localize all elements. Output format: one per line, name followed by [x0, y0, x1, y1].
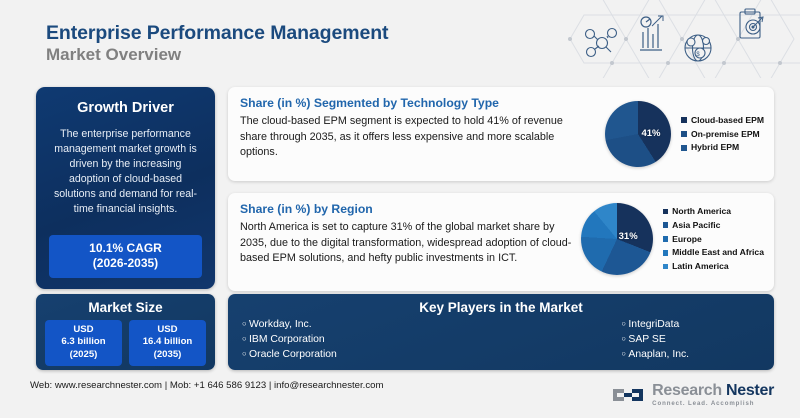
legend-label: Hybrid EPM	[691, 143, 739, 152]
legend-swatch-icon	[663, 264, 669, 270]
legend-label: North America	[672, 207, 731, 216]
page-subtitle: Market Overview	[46, 45, 388, 65]
legend-item: Europe	[663, 232, 764, 246]
ms-currency: USD	[130, 324, 205, 336]
legend-item: Hybrid EPM	[681, 141, 764, 155]
legend-item: On-premise EPM	[681, 127, 764, 141]
legend-swatch-icon	[663, 222, 669, 228]
legend-item: Asia Pacific	[663, 218, 764, 232]
clipboard-target-icon	[740, 9, 763, 38]
legend-item: Middle East and Africa	[663, 246, 764, 260]
key-players-title: Key Players in the Market	[238, 300, 764, 315]
logo-word-nester: Nester	[726, 382, 774, 399]
ms-year: (2025)	[46, 349, 121, 361]
network-analysis-icon	[586, 29, 617, 57]
svg-text:$: $	[696, 52, 700, 58]
logo-tagline: Connect. Lead. Accomplish	[652, 401, 774, 407]
infographic-root: $ Enterprise Performance Management Mark…	[0, 0, 800, 418]
legend-label: Latin America	[672, 262, 729, 271]
legend-label: Middle East and Africa	[672, 248, 764, 257]
legend-swatch-icon	[663, 236, 669, 242]
footer-contact: Web: www.researchnester.com | Mob: +1 64…	[30, 379, 383, 393]
market-size-box-2025: USD 6.3 billion (2025)	[45, 320, 122, 366]
region-pie: 31%	[581, 203, 653, 275]
legend-swatch-icon	[663, 209, 669, 215]
market-size-boxes: USD 6.3 billion (2025) USD 16.4 billion …	[45, 320, 206, 366]
legend-label: On-premise EPM	[691, 130, 760, 139]
legend-swatch-icon	[681, 131, 687, 137]
region-pie-chart: 31% North AmericaAsia PacificEuropeMiddl…	[581, 203, 764, 275]
region-share-panel: Share (in %) by Region North America is …	[228, 193, 774, 291]
legend-swatch-icon	[681, 117, 687, 123]
cagr-badge: 10.1% CAGR (2026-2035)	[49, 235, 202, 278]
key-players-left-column: Workday, Inc.IBM CorporationOracle Corpo…	[242, 318, 491, 362]
key-player-item: Anaplan, Inc.	[621, 348, 689, 363]
legend-swatch-icon	[663, 250, 669, 256]
growth-driver-title: Growth Driver	[49, 100, 202, 116]
legend-swatch-icon	[681, 145, 687, 151]
ms-currency: USD	[46, 324, 121, 336]
technology-panel-text: The cloud-based EPM segment is expected …	[240, 114, 580, 161]
legend-label: Asia Pacific	[672, 221, 720, 230]
key-player-item: SAP SE	[621, 333, 665, 348]
bar-chart-growth-icon	[640, 16, 663, 50]
hexagon-decoration: $	[540, 0, 800, 78]
technology-share-panel: Share (in %) Segmented by Technology Typ…	[228, 87, 774, 181]
key-player-item: Workday, Inc.	[242, 318, 491, 333]
technology-pie: 41%	[605, 101, 671, 167]
ms-year: (2035)	[130, 349, 205, 361]
legend-label: Europe	[672, 235, 702, 244]
global-finance-icon: $	[685, 35, 711, 61]
growth-driver-body: The enterprise performance management ma…	[49, 127, 202, 217]
legend-item: Cloud-based EPM	[681, 113, 764, 127]
cagr-value: 10.1% CAGR	[51, 241, 200, 256]
page-header: Enterprise Performance Management Market…	[46, 22, 388, 66]
region-legend: North AmericaAsia PacificEuropeMiddle Ea…	[663, 205, 764, 274]
logo-word-research: Research	[652, 382, 722, 399]
logo-mark-icon	[611, 384, 645, 406]
key-player-item: IntegriData	[621, 318, 679, 333]
research-nester-logo: Research Nester Connect. Lead. Accomplis…	[611, 383, 774, 407]
key-players-card: Key Players in the Market Workday, Inc.I…	[228, 294, 774, 370]
market-size-box-2035: USD 16.4 billion (2035)	[129, 320, 206, 366]
market-size-title: Market Size	[45, 300, 206, 315]
region-panel-text: North America is set to capture 31% of t…	[240, 220, 580, 267]
technology-pie-chart: 41% Cloud-based EPMOn-premise EPMHybrid …	[605, 101, 764, 167]
cagr-period: (2026-2035)	[51, 256, 200, 271]
page-title: Enterprise Performance Management	[46, 22, 388, 44]
technology-legend: Cloud-based EPMOn-premise EPMHybrid EPM	[681, 113, 764, 154]
legend-label: Cloud-based EPM	[691, 116, 764, 125]
key-player-item: Oracle Corporation	[242, 348, 491, 363]
ms-value: 16.4 billion	[130, 336, 205, 348]
key-player-item: IBM Corporation	[242, 333, 491, 348]
key-players-right-column: IntegriDataSAP SEAnaplan, Inc.	[511, 318, 760, 362]
legend-item: Latin America	[663, 260, 764, 274]
ms-value: 6.3 billion	[46, 336, 121, 348]
legend-item: North America	[663, 205, 764, 219]
growth-driver-card: Growth Driver The enterprise performance…	[36, 87, 215, 289]
technology-pie-label: 41%	[641, 128, 660, 139]
region-pie-label: 31%	[619, 231, 638, 242]
market-size-card: Market Size USD 6.3 billion (2025) USD 1…	[36, 294, 215, 370]
